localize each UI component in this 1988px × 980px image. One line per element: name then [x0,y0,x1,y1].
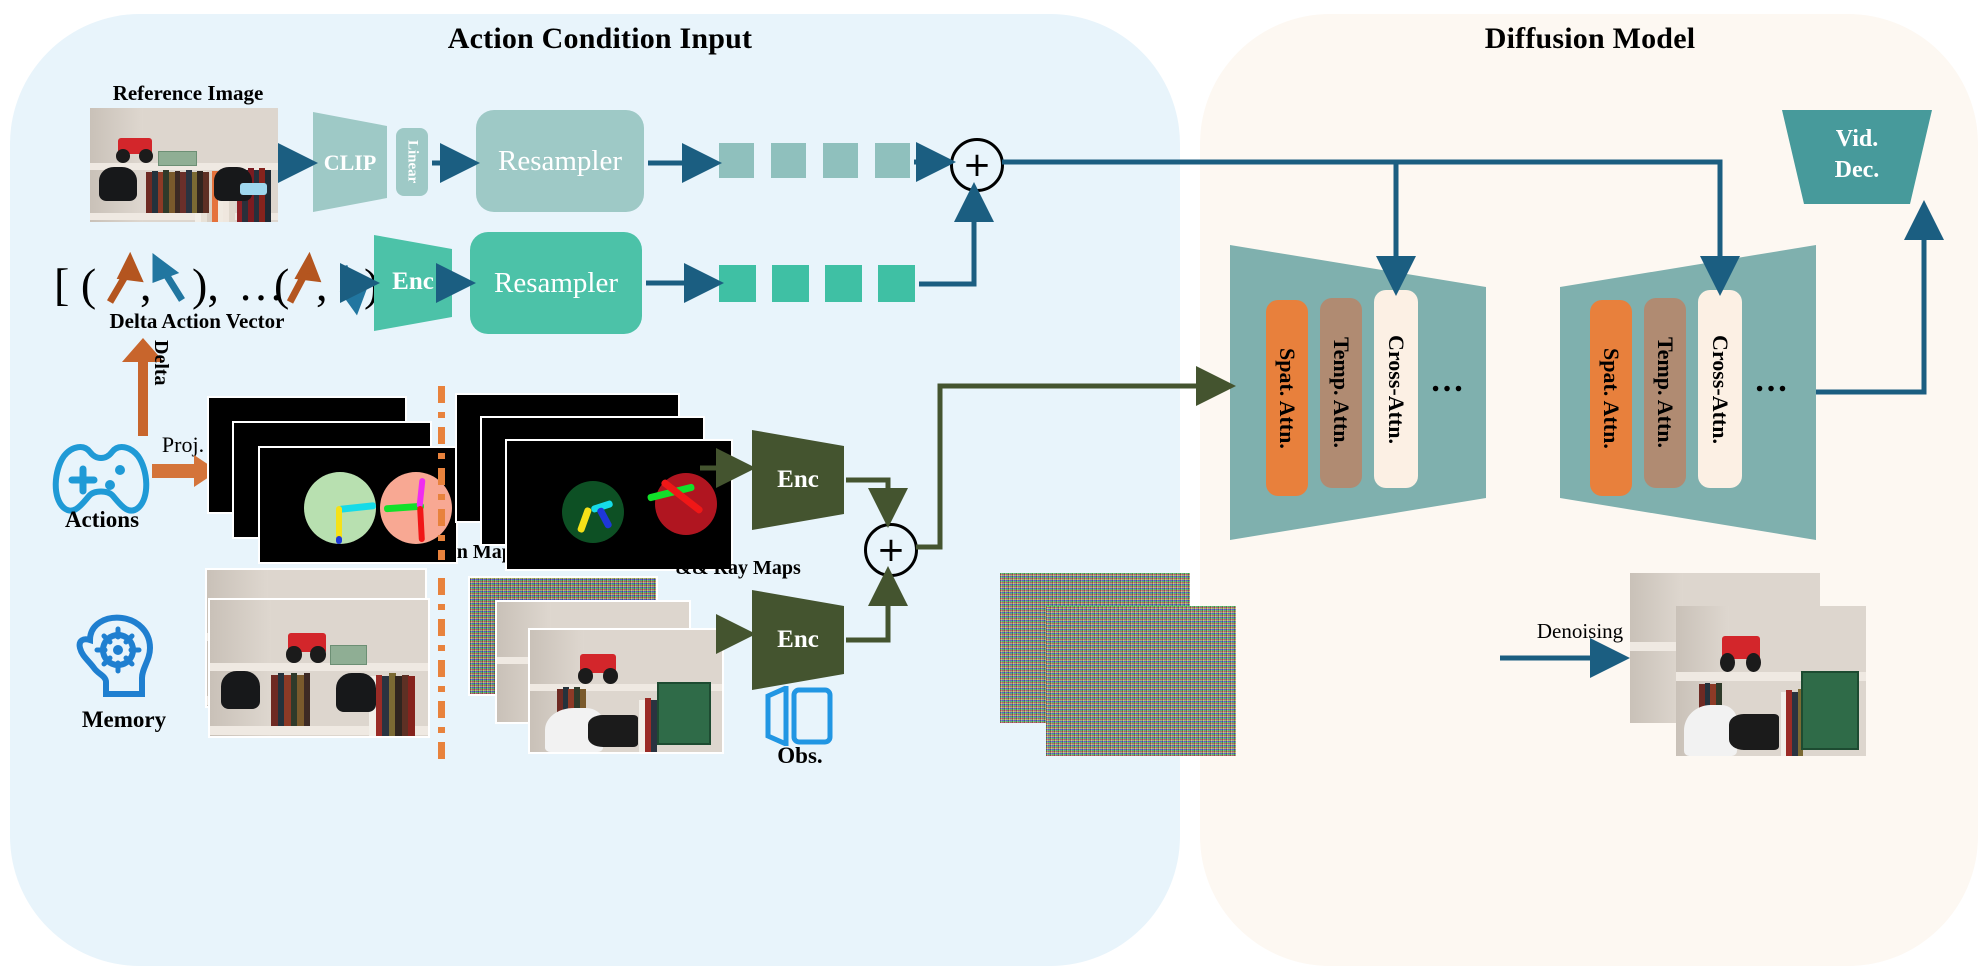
svg-text:,: , [140,259,152,310]
action-token-3 [825,265,862,302]
delta-action-vector-label: Delta Action Vector [82,310,312,332]
clip-label: CLIP [313,150,387,176]
memory-label: Memory [62,708,186,732]
obs-encoder-block: Enc [752,590,844,690]
left-panel-title: Action Condition Input [300,22,900,56]
resampler-bottom-label: Resampler [494,267,618,300]
action-token-2 [772,265,809,302]
clean-output-frame-front [1676,606,1866,756]
down-block-ellipsis: … [1430,362,1467,400]
video-decoder-block: Vid. Dec. [1782,110,1932,204]
image-token-4 [875,143,910,178]
linear-label: Linear [404,140,421,183]
spat-attn-pill-up: Spat. Attn. [1590,300,1632,496]
camera-icon [764,686,834,746]
memory-frame-front [208,598,430,738]
enc-action-label: Enc [374,268,452,296]
delta-arrow-label-wrap: Delta [150,340,180,430]
vid-dec-line1: Vid. [1782,124,1932,155]
image-token-1 [719,143,754,178]
svg-text:[ (: [ ( [54,259,96,310]
plus-node-tokens: + [950,138,1004,192]
plus-node-latents: + [864,523,918,577]
reference-image-thumbnail [90,108,278,222]
action-encoder-block: Enc [374,235,452,331]
temp-attn-pill-down: Temp. Attn. [1320,298,1362,488]
image-token-3 [823,143,858,178]
ray-maps-label: && Ray Maps [668,558,808,579]
action-token-4 [878,265,915,302]
vid-dec-line2: Dec. [1782,155,1932,186]
delta-arrow-label: Delta [150,340,171,386]
right-panel-title: Diffusion Model [1330,22,1850,56]
temp-attn-label-down: Temp. Attn. [1328,337,1354,448]
up-block-ellipsis: … [1754,362,1791,400]
cross-attn-pill-down: Cross-Attn. [1374,290,1418,488]
clip-encoder-block: CLIP [313,112,387,212]
spat-attn-pill-down: Spat. Attn. [1266,300,1308,496]
cross-attn-pill-up: Cross-Attn. [1698,290,1742,488]
reference-image-label: Reference Image [98,82,278,104]
resampler-image-block: Resampler [476,110,644,212]
cross-attn-label-up: Cross-Attn. [1707,335,1733,444]
cross-attn-label-down: Cross-Attn. [1383,335,1409,444]
temp-attn-label-up: Temp. Attn. [1652,337,1678,448]
maps-encoder-block: Enc [752,430,844,530]
image-token-2 [771,143,806,178]
separator-dash-bottom [438,578,445,768]
actions-label: Actions [44,508,160,532]
action-token-1 [719,265,756,302]
resampler-top-label: Resampler [498,145,622,178]
action-stick-blue [336,536,342,544]
obs-frame-front [528,628,724,754]
spat-attn-label-down: Spat. Attn. [1274,348,1300,449]
separator-dash-top [438,386,445,560]
resampler-action-block: Resampler [470,232,642,334]
noisy-output-frame-front [1046,606,1236,756]
memory-brain-icon [72,610,160,708]
obs-label: Obs. [760,744,840,768]
enc-obs-label: Enc [752,626,844,654]
svg-text:),: ), [192,259,219,310]
temp-attn-pill-up: Temp. Attn. [1644,298,1686,488]
spat-attn-label-up: Spat. Attn. [1598,348,1624,449]
delta-action-vector-expression-2: ) ] [268,252,388,318]
gamepad-icon [48,440,154,516]
linear-projection-block: Linear [396,128,428,196]
enc-maps-label: Enc [752,466,844,494]
action-stick-yellow [336,506,342,540]
ray-map-front-frame [505,439,733,571]
